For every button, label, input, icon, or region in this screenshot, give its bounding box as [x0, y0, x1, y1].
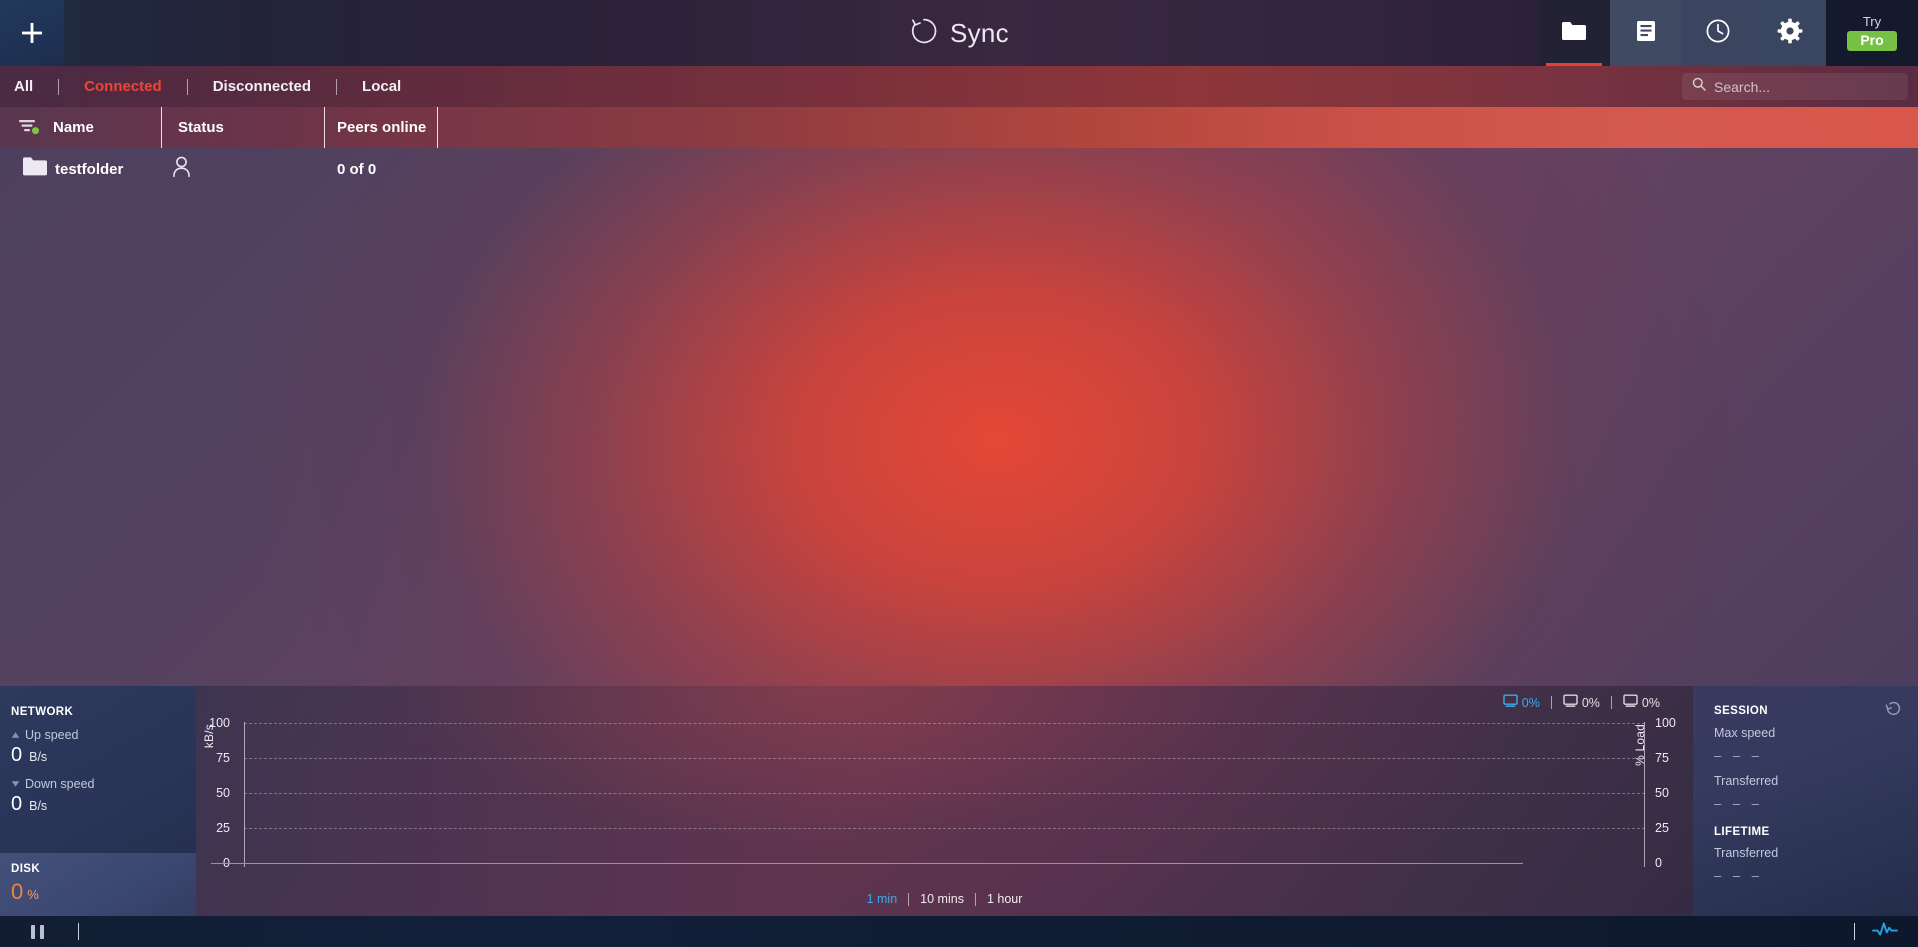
- preferences-tab[interactable]: [1754, 0, 1826, 66]
- disk-value: 0: [11, 881, 23, 903]
- network-panel: NETWORK Up speed 0 B/s Down speed 0 B/s …: [0, 686, 196, 916]
- up-speed-row: Up speed: [11, 726, 79, 744]
- table-header: Name Status Peers online: [0, 107, 1918, 148]
- folder-icon: [22, 156, 48, 182]
- column-header-status[interactable]: Status: [178, 107, 224, 148]
- session-max-speed-value: – – –: [1714, 748, 1763, 763]
- top-toolbar: Sync: [0, 0, 1918, 66]
- session-transferred-value: – – –: [1714, 796, 1763, 811]
- filter-connected[interactable]: Connected: [84, 78, 162, 95]
- try-pro-button[interactable]: Try Pro: [1826, 0, 1918, 66]
- y2tick-100: 100: [1655, 716, 1697, 730]
- status-divider: [78, 923, 79, 940]
- device-load-indicator-2[interactable]: 0%: [1552, 694, 1611, 711]
- disk-unit: %: [27, 887, 39, 902]
- session-title: SESSION: [1714, 705, 1768, 717]
- ytick-50: 50: [190, 786, 230, 800]
- device-load-indicators: 0% 0% 0%: [1492, 694, 1671, 711]
- disk-value-row: 0 %: [11, 881, 39, 903]
- status-divider: [1854, 923, 1855, 940]
- filter-divider: [336, 79, 337, 95]
- history-tab[interactable]: [1682, 0, 1754, 66]
- filter-all[interactable]: All: [14, 78, 33, 95]
- folder-icon: [1561, 20, 1587, 47]
- column-divider[interactable]: [324, 107, 325, 148]
- monitor-icon: [1623, 694, 1638, 711]
- try-label: Try: [1863, 15, 1881, 28]
- search-icon: [1692, 77, 1706, 96]
- filter-bar: All Connected Disconnected Local: [0, 66, 1918, 107]
- y-axis-label: kB/s: [202, 724, 216, 748]
- app-logo-text: Sync: [950, 18, 1009, 49]
- sort-filter-button[interactable]: [18, 107, 40, 148]
- search-input[interactable]: [1714, 79, 1884, 95]
- session-panel: SESSION Max speed – – – Transferred – – …: [1693, 686, 1918, 916]
- up-speed-unit: B/s: [29, 750, 47, 764]
- ytick-75: 75: [190, 751, 230, 765]
- status-bar: [0, 916, 1918, 947]
- y2tick-75: 75: [1655, 751, 1697, 765]
- up-speed-label: Up speed: [25, 728, 79, 742]
- time-range-1hour[interactable]: 1 hour: [976, 892, 1033, 906]
- time-range-10mins[interactable]: 10 mins: [909, 892, 975, 906]
- column-header-name[interactable]: Name: [53, 107, 94, 148]
- filter-disconnected[interactable]: Disconnected: [213, 78, 311, 95]
- gridline-100: [244, 723, 1645, 724]
- lifetime-transferred-value: – – –: [1714, 868, 1763, 883]
- column-divider[interactable]: [161, 107, 162, 148]
- network-title: NETWORK: [11, 706, 73, 718]
- pause-icon: [31, 925, 44, 939]
- y2tick-0: 0: [1655, 856, 1697, 870]
- disk-title: DISK: [11, 863, 40, 875]
- device-load-value-3: 0%: [1642, 696, 1660, 710]
- triangle-up-icon: [11, 726, 20, 744]
- person-icon: [172, 156, 191, 182]
- sync-circle-icon: [909, 16, 939, 51]
- row-folder-name: testfolder: [55, 161, 123, 178]
- time-range-1min[interactable]: 1 min: [856, 892, 909, 906]
- monitor-icon: [1563, 694, 1578, 711]
- triangle-down-icon: [11, 775, 20, 793]
- pro-badge: Pro: [1847, 31, 1896, 51]
- ytick-25: 25: [190, 821, 230, 835]
- gridline-50: [244, 793, 1645, 794]
- plus-icon: [18, 19, 46, 47]
- filter-divider: [187, 79, 188, 95]
- activity-graph-button[interactable]: [1868, 920, 1902, 943]
- y2tick-25: 25: [1655, 821, 1697, 835]
- y2-axis-line: [1644, 722, 1645, 867]
- down-speed-row: Down speed: [11, 775, 95, 793]
- column-header-peers[interactable]: Peers online: [337, 107, 426, 148]
- down-speed-value-row: 0 B/s: [11, 794, 47, 814]
- disk-panel: DISK 0 %: [0, 853, 196, 916]
- pause-button[interactable]: [18, 920, 56, 943]
- gridline-75: [244, 758, 1645, 759]
- bandwidth-chart-panel: 0% 0% 0%: [196, 686, 1693, 916]
- down-speed-value: 0: [11, 794, 22, 814]
- y2tick-50: 50: [1655, 786, 1697, 800]
- table-row[interactable]: testfolder 0 of 0: [0, 148, 1918, 190]
- sort-filter-icon: [18, 117, 40, 139]
- search-box[interactable]: [1682, 73, 1908, 100]
- gridline-25: [244, 828, 1645, 829]
- row-peers-online: 0 of 0: [337, 161, 376, 178]
- filter-local[interactable]: Local: [362, 78, 401, 95]
- sync-app-window: Sync: [0, 0, 1918, 947]
- down-speed-unit: B/s: [29, 799, 47, 813]
- clock-icon: [1705, 18, 1731, 49]
- lifetime-transferred-label: Transferred: [1714, 846, 1778, 860]
- session-transferred-label: Transferred: [1714, 774, 1778, 788]
- y-axis-line: [244, 722, 245, 867]
- monitor-icon: [1503, 694, 1518, 711]
- up-speed-value-row: 0 B/s: [11, 745, 47, 765]
- lifetime-title: LIFETIME: [1714, 826, 1770, 838]
- reset-arrow-icon[interactable]: [1885, 700, 1902, 722]
- devices-tab[interactable]: [1610, 0, 1682, 66]
- filter-divider: [58, 79, 59, 95]
- toolbar-tabs: [1538, 0, 1826, 66]
- activity-graph-icon: [1872, 920, 1898, 943]
- folders-tab[interactable]: [1538, 0, 1610, 66]
- down-speed-label: Down speed: [25, 777, 95, 791]
- chart-series-line: [211, 863, 1523, 864]
- column-divider[interactable]: [437, 107, 438, 148]
- device-load-indicator-1[interactable]: 0%: [1492, 694, 1551, 711]
- gear-icon: [1777, 18, 1803, 49]
- device-load-value-1: 0%: [1522, 696, 1540, 710]
- document-icon: [1635, 19, 1657, 48]
- session-max-speed-label: Max speed: [1714, 726, 1775, 740]
- add-folder-button[interactable]: [0, 0, 64, 66]
- time-range-selector: 1 min 10 mins 1 hour: [196, 892, 1693, 906]
- device-load-value-2: 0%: [1582, 696, 1600, 710]
- up-speed-value: 0: [11, 745, 22, 765]
- device-load-indicator-3[interactable]: 0%: [1612, 694, 1671, 711]
